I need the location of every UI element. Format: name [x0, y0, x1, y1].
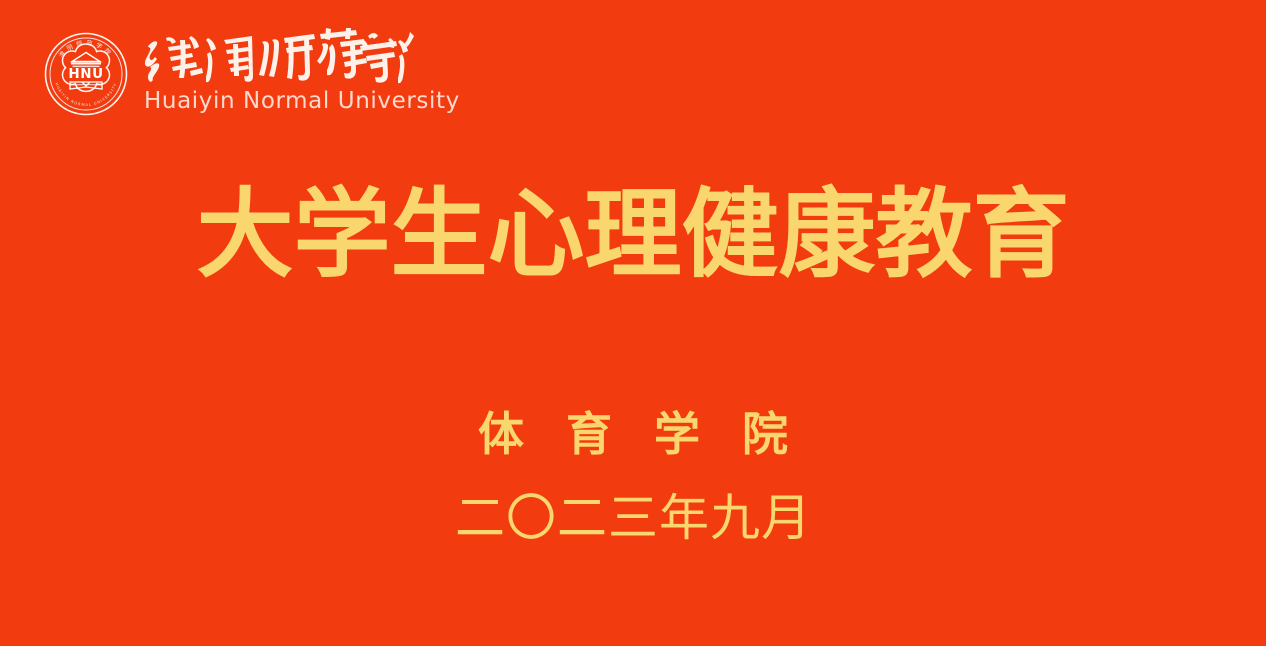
slide-date-subtitle: 二〇二三年九月	[0, 490, 1266, 548]
presentation-title-slide: HNU 淮阴师范学院 HUAIYIN NORMAL UNIVERSITY	[0, 0, 1266, 646]
university-branding-lockup: HNU 淮阴师范学院 HUAIYIN NORMAL UNIVERSITY	[44, 26, 460, 130]
slide-department-subtitle: 体育学院	[0, 408, 1266, 461]
slide-main-title: 大学生心理健康教育	[0, 182, 1266, 289]
university-name-english: Huaiyin Normal University	[144, 90, 460, 113]
emblem-monogram-text: HNU	[68, 66, 103, 82]
university-name-block: Huaiyin Normal University	[144, 26, 460, 113]
university-emblem-icon: HNU 淮阴师范学院 HUAIYIN NORMAL UNIVERSITY	[44, 32, 128, 116]
university-name-chinese-calligraphy	[144, 26, 416, 88]
emblem-ring-chinese-text: 淮阴师范学院	[57, 39, 115, 59]
